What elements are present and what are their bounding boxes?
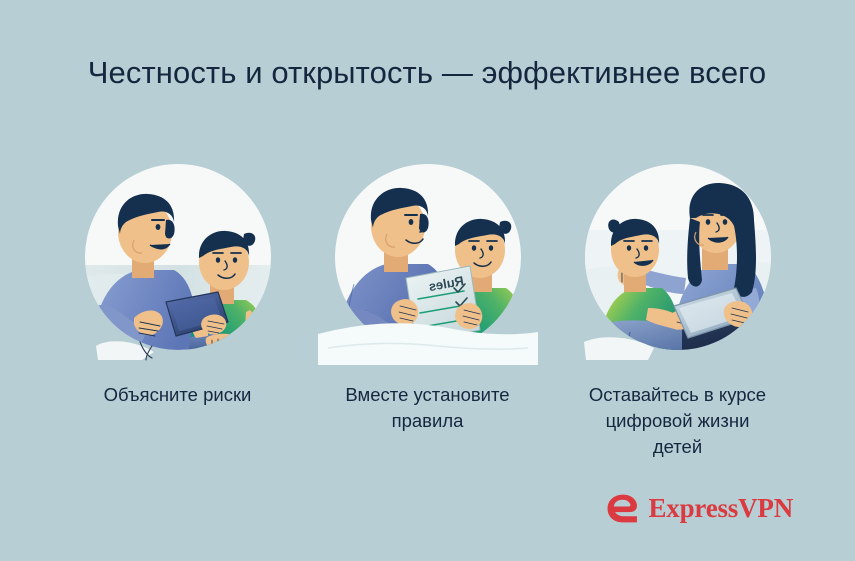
panel-stay-informed-digital-life: Оставайтесь в курсе цифровой жизни детей <box>553 160 803 460</box>
illustration-father-and-son-with-tablet <box>78 160 278 360</box>
panel-row: Объясните риски <box>0 160 855 460</box>
panel-caption: Объясните риски <box>78 382 278 408</box>
expressvpn-e-mark <box>606 492 639 525</box>
expressvpn-wordmark: ExpressVPN <box>648 495 793 522</box>
panel-caption: Вместе установите правила <box>328 382 528 434</box>
illustration-father-and-son-holding-rules-sheet: Rules <box>328 160 528 360</box>
page-title: Честность и открытость — эффективнее все… <box>77 52 777 94</box>
poster-root: Честность и открытость — эффективнее все… <box>0 0 855 561</box>
illustration-mother-and-son-with-tablet <box>578 160 778 360</box>
panel-caption: Оставайтесь в курсе цифровой жизни детей <box>585 382 770 460</box>
panel-set-rules-together: Rules Вместе установите пр <box>303 160 553 434</box>
expressvpn-logo[interactable]: ExpressVPN <box>606 492 793 525</box>
panel-explain-risks: Объясните риски <box>53 160 303 408</box>
